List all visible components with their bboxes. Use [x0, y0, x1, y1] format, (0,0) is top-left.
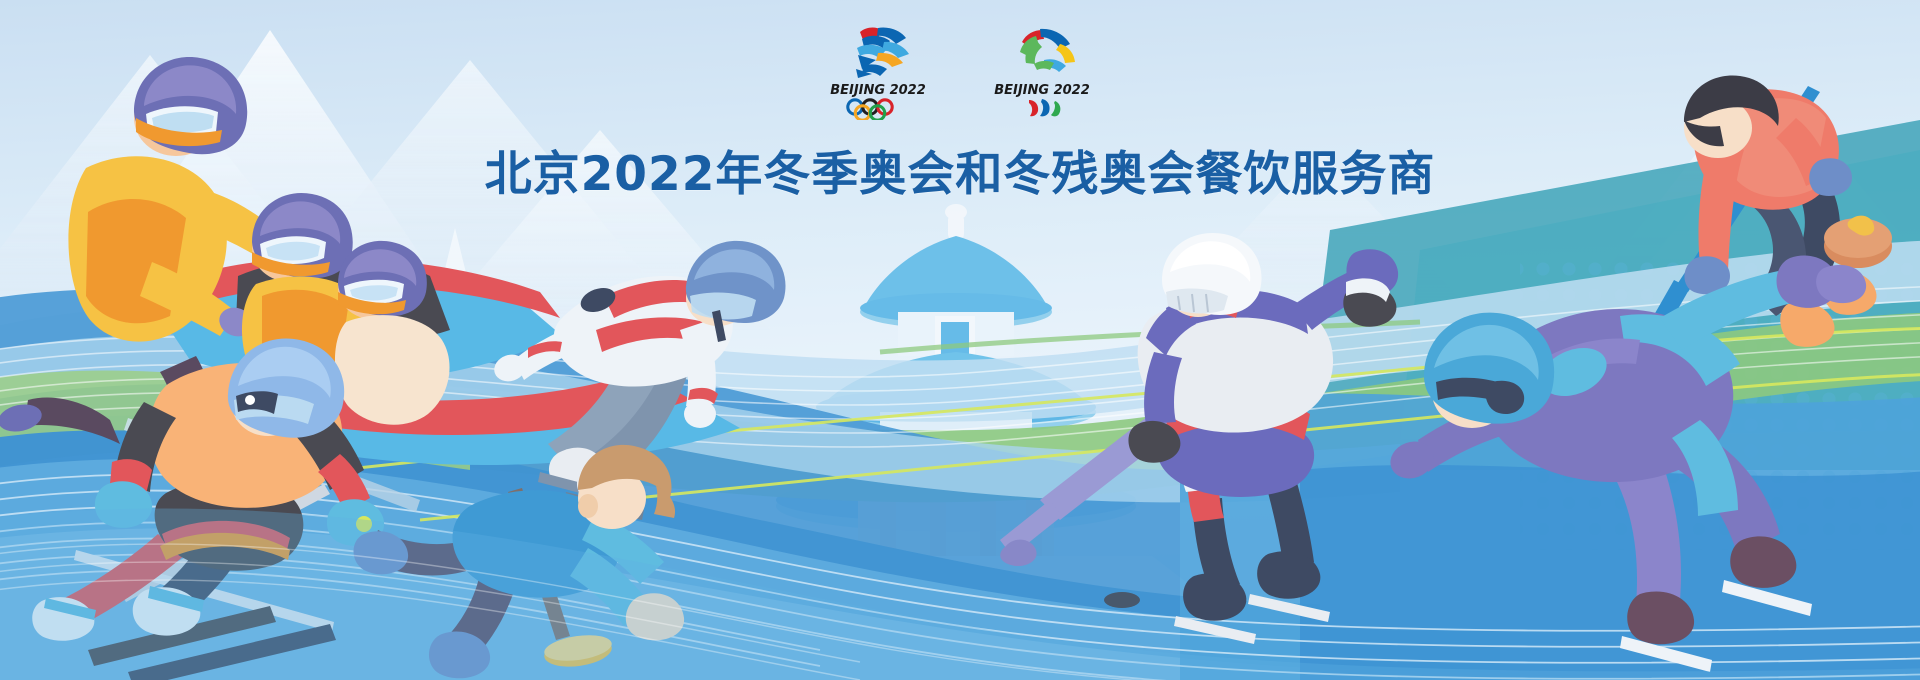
paralympic-wordmark-text: BEIJING 2022: [994, 83, 1090, 97]
olympic-wordmark-text: BEIJING 2022: [830, 83, 926, 97]
olympic-emblem: BEIJING 2022: [822, 22, 934, 120]
beijing-2022-banner: BEIJING 2022: [0, 0, 1920, 680]
emblem-row: BEIJING 2022: [0, 22, 1920, 120]
page-title-container: 北京2022年冬季奥会和冬残奥会餐饮服务商: [0, 118, 1920, 234]
leap-emblem-icon: [996, 22, 1088, 78]
olympic-rings-icon: [839, 98, 917, 120]
paralympic-emblem: BEIJING 2022: [986, 22, 1098, 118]
paralympic-agitos-icon: [1015, 98, 1069, 118]
page-title: 北京2022年冬季奥会和冬残奥会餐饮服务商: [485, 149, 1436, 202]
paralympic-wordmark: BEIJING 2022: [992, 80, 1092, 97]
olympic-wordmark: BEIJING 2022: [828, 80, 928, 97]
winter-dream-emblem-icon: [832, 22, 924, 78]
